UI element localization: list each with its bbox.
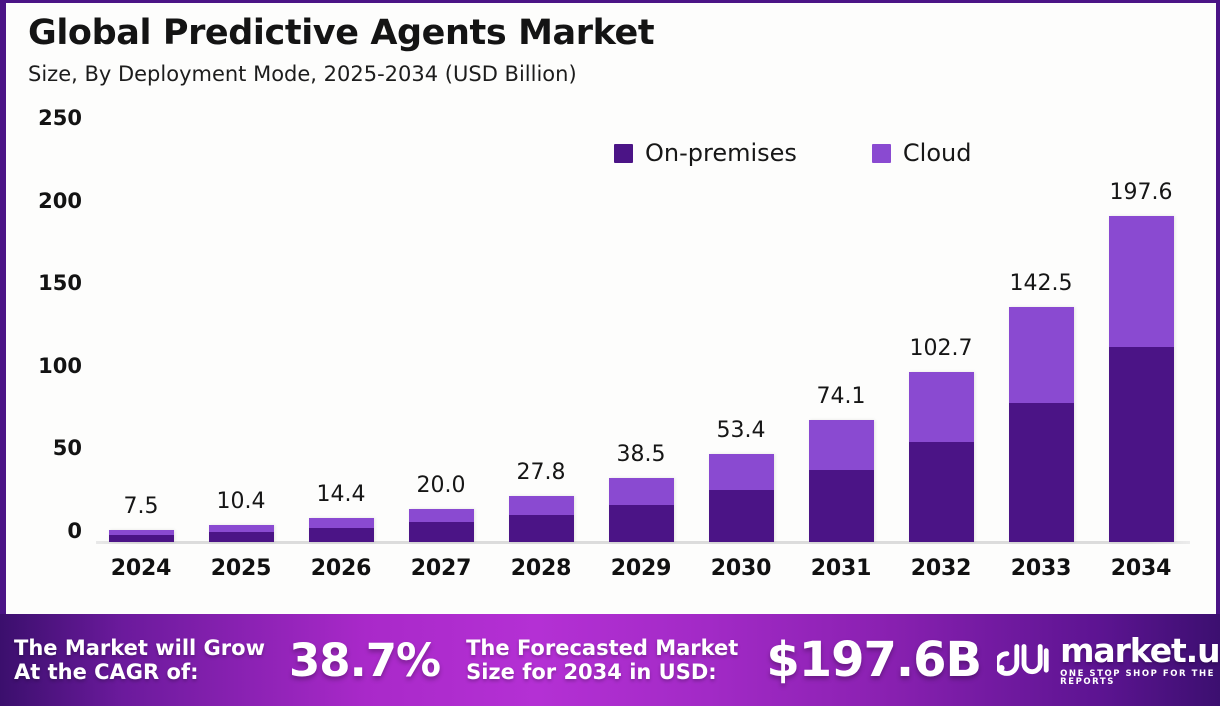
brand-logo[interactable]: market.us ONE STOP SHOP FOR THE REPORTS xyxy=(997,634,1220,687)
x-tick-label-2033: 2033 xyxy=(996,556,1086,581)
bar-group-2034[interactable]: 197.6 xyxy=(1096,118,1186,542)
x-tick-label-2029: 2029 xyxy=(596,556,686,581)
bar-segment-on-premises-2033[interactable] xyxy=(1009,403,1074,542)
forecast-value: $197.6B xyxy=(766,632,981,688)
x-tick-label-2032: 2032 xyxy=(896,556,986,581)
bar-stack-2028[interactable] xyxy=(509,496,574,542)
bar-group-2025[interactable]: 10.4 xyxy=(196,118,286,542)
bar-segment-on-premises-2027[interactable] xyxy=(409,522,474,542)
bar-segment-cloud-2031[interactable] xyxy=(809,420,874,470)
bar-segment-cloud-2025[interactable] xyxy=(209,525,274,532)
bar-segment-cloud-2032[interactable] xyxy=(909,372,974,442)
cagr-value: 38.7% xyxy=(289,634,440,687)
x-tick-label-2028: 2028 xyxy=(496,556,586,581)
chart-subtitle: Size, By Deployment Mode, 2025-2034 (USD… xyxy=(28,62,1128,87)
brand-name: market.us xyxy=(1060,634,1220,667)
bar-group-2031[interactable]: 74.1 xyxy=(796,118,886,542)
bar-segment-cloud-2034[interactable] xyxy=(1109,216,1174,347)
forecast-caption-line2: Size for 2034 in USD: xyxy=(466,660,738,684)
bar-segment-cloud-2030[interactable] xyxy=(709,454,774,490)
bar-value-label-2029: 38.5 xyxy=(596,442,686,467)
bar-group-2028[interactable]: 27.8 xyxy=(496,118,586,542)
bar-segment-on-premises-2031[interactable] xyxy=(809,470,874,542)
y-tick-100: 100 xyxy=(38,354,82,378)
brand-text: market.us ONE STOP SHOP FOR THE REPORTS xyxy=(1060,634,1220,687)
bar-group-2026[interactable]: 14.4 xyxy=(296,118,386,542)
bar-stack-2027[interactable] xyxy=(409,509,474,542)
frame-border-top xyxy=(0,0,1220,3)
x-tick-label-2034: 2034 xyxy=(1096,556,1186,581)
forecast-caption-line1: The Forecasted Market xyxy=(466,636,738,660)
chart-header: Global Predictive Agents Market Size, By… xyxy=(28,14,1128,87)
bar-segment-on-premises-2025[interactable] xyxy=(209,532,274,542)
summary-banner: The Market will Grow At the CAGR of: 38.… xyxy=(0,614,1220,706)
cagr-caption: The Market will Grow At the CAGR of: xyxy=(14,636,265,685)
market-size-infographic: Global Predictive Agents Market Size, By… xyxy=(0,0,1220,706)
y-tick-250: 250 xyxy=(38,106,82,130)
bar-stack-2026[interactable] xyxy=(309,518,374,542)
y-axis: 050100150200250 xyxy=(20,118,82,542)
bar-stack-2030[interactable] xyxy=(709,454,774,542)
frame-border-left xyxy=(0,0,6,706)
bar-segment-cloud-2027[interactable] xyxy=(409,509,474,522)
bar-segment-on-premises-2032[interactable] xyxy=(909,442,974,542)
y-tick-0: 0 xyxy=(67,519,82,543)
bar-group-2024[interactable]: 7.5 xyxy=(96,118,186,542)
bar-stack-2034[interactable] xyxy=(1109,216,1174,542)
bar-segment-on-premises-2026[interactable] xyxy=(309,528,374,542)
bar-segment-on-premises-2028[interactable] xyxy=(509,515,574,542)
bar-segment-on-premises-2034[interactable] xyxy=(1109,347,1174,542)
bar-stack-2029[interactable] xyxy=(609,478,674,542)
x-axis: 2024202520262027202820292030203120322033… xyxy=(96,556,1186,581)
brand-tagline: ONE STOP SHOP FOR THE REPORTS xyxy=(1060,670,1220,687)
bar-stack-2032[interactable] xyxy=(909,372,974,542)
bar-group-2027[interactable]: 20.0 xyxy=(396,118,486,542)
bar-value-label-2024: 7.5 xyxy=(96,494,186,519)
bar-group-2032[interactable]: 102.7 xyxy=(896,118,986,542)
bars-container: 7.510.414.420.027.838.553.474.1102.7142.… xyxy=(96,118,1186,542)
market-us-logo-icon xyxy=(997,641,1051,679)
y-tick-150: 150 xyxy=(38,271,82,295)
frame-border-right xyxy=(1216,0,1220,706)
bar-value-label-2025: 10.4 xyxy=(196,489,286,514)
bar-value-label-2027: 20.0 xyxy=(396,473,486,498)
x-tick-label-2025: 2025 xyxy=(196,556,286,581)
bar-stack-2033[interactable] xyxy=(1009,307,1074,542)
y-tick-50: 50 xyxy=(53,436,82,460)
x-tick-label-2030: 2030 xyxy=(696,556,786,581)
x-tick-label-2031: 2031 xyxy=(796,556,886,581)
bar-value-label-2034: 197.6 xyxy=(1096,180,1186,205)
bar-group-2029[interactable]: 38.5 xyxy=(596,118,686,542)
bar-value-label-2032: 102.7 xyxy=(896,336,986,361)
bar-group-2033[interactable]: 142.5 xyxy=(996,118,1086,542)
bar-stack-2025[interactable] xyxy=(209,525,274,542)
bar-stack-2024[interactable] xyxy=(109,530,174,542)
bar-segment-cloud-2026[interactable] xyxy=(309,518,374,528)
forecast-block: The Forecasted Market Size for 2034 in U… xyxy=(440,632,981,688)
bar-value-label-2028: 27.8 xyxy=(496,460,586,485)
x-tick-label-2026: 2026 xyxy=(296,556,386,581)
bar-segment-cloud-2029[interactable] xyxy=(609,478,674,504)
cagr-block: The Market will Grow At the CAGR of: 38.… xyxy=(0,634,440,687)
forecast-caption: The Forecasted Market Size for 2034 in U… xyxy=(466,636,738,685)
bar-segment-on-premises-2029[interactable] xyxy=(609,505,674,543)
bar-value-label-2031: 74.1 xyxy=(796,384,886,409)
cagr-caption-line2: At the CAGR of: xyxy=(14,660,265,684)
chart-title: Global Predictive Agents Market xyxy=(28,14,1128,53)
bar-segment-on-premises-2030[interactable] xyxy=(709,490,774,542)
bar-group-2030[interactable]: 53.4 xyxy=(696,118,786,542)
bar-value-label-2033: 142.5 xyxy=(996,271,1086,296)
y-tick-200: 200 xyxy=(38,189,82,213)
x-tick-label-2027: 2027 xyxy=(396,556,486,581)
bar-stack-2031[interactable] xyxy=(809,420,874,542)
x-tick-label-2024: 2024 xyxy=(96,556,186,581)
bar-segment-on-premises-2024[interactable] xyxy=(109,535,174,542)
bar-segment-cloud-2033[interactable] xyxy=(1009,307,1074,403)
cagr-caption-line1: The Market will Grow xyxy=(14,636,265,660)
bar-value-label-2026: 14.4 xyxy=(296,482,386,507)
bar-value-label-2030: 53.4 xyxy=(696,418,786,443)
bar-segment-cloud-2028[interactable] xyxy=(509,496,574,515)
